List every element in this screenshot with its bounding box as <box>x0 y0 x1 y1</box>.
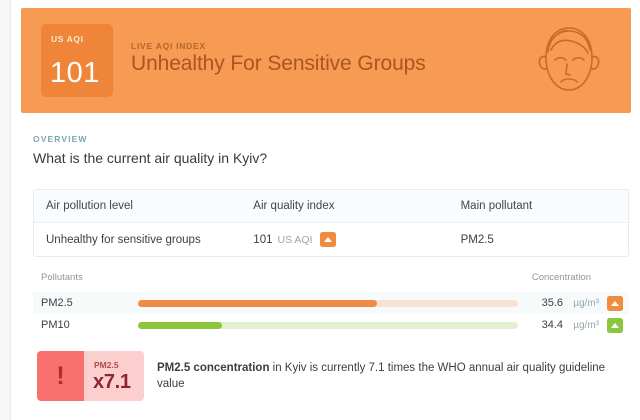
trend-up-icon <box>320 232 336 247</box>
banner-title: Unhealthy For Sensitive Groups <box>131 52 426 76</box>
content-card: US AQI 101 LIVE AQI INDEX Unhealthy For … <box>10 0 640 420</box>
who-guideline-text: PM2.5 concentration in Kyiv is currently… <box>157 360 627 392</box>
us-aqi-badge: US AQI 101 <box>41 24 113 97</box>
sad-face-icon <box>529 20 609 102</box>
who-text-bold: PM2.5 concentration <box>157 362 269 374</box>
pollutant-name: PM10 <box>41 319 70 331</box>
trend-up-icon <box>607 296 623 311</box>
who-multiplier-label: PM2.5 <box>94 360 119 370</box>
pollutant-row-pm25: PM2.5 35.6 µg/m³ <box>33 292 629 314</box>
cell-air-quality-index: 101 US AQI <box>241 232 448 247</box>
table-header-aqi: Air quality index <box>241 200 448 212</box>
pollutant-unit: µg/m³ <box>573 298 599 309</box>
exclamation-icon: ! <box>37 351 84 401</box>
cell-main-pollutant: PM2.5 <box>449 234 628 246</box>
who-multiplier-value: x7.1 <box>93 371 131 394</box>
aqi-banner: US AQI 101 LIVE AQI INDEX Unhealthy For … <box>21 8 631 113</box>
pollutant-bar-track <box>138 300 518 307</box>
air-quality-table: Air pollution level Air quality index Ma… <box>33 189 629 257</box>
us-aqi-badge-label: US AQI <box>51 34 84 44</box>
pollutant-name: PM2.5 <box>41 297 73 309</box>
table-row: Unhealthy for sensitive groups 101 US AQ… <box>34 223 628 256</box>
air-quality-page: US AQI 101 LIVE AQI INDEX Unhealthy For … <box>0 0 640 420</box>
pollutant-bar-fill <box>138 300 377 307</box>
who-multiplier: PM2.5 x7.1 <box>84 351 144 401</box>
table-header-row: Air pollution level Air quality index Ma… <box>34 190 628 223</box>
pollutant-bar-track <box>138 322 518 329</box>
banner-eyebrow: LIVE AQI INDEX <box>131 41 206 51</box>
pollutant-row-pm10: PM10 34.4 µg/m³ <box>33 314 629 336</box>
pollutant-value: 35.6 <box>542 297 563 309</box>
overview-question: What is the current air quality in Kyiv? <box>33 150 267 166</box>
cell-pollution-level: Unhealthy for sensitive groups <box>34 234 241 246</box>
overview-eyebrow: OVERVIEW <box>33 134 87 144</box>
pollutant-bar-fill <box>138 322 222 329</box>
concentration-column-label: Concentration <box>532 272 591 283</box>
pollutant-value: 34.4 <box>542 319 563 331</box>
pollutant-unit: µg/m³ <box>573 320 599 331</box>
who-guideline-badge: ! PM2.5 x7.1 <box>37 351 144 401</box>
pollutants-header: Pollutants Concentration <box>33 272 629 290</box>
pollutants-column-label: Pollutants <box>41 272 83 283</box>
trend-up-icon <box>607 318 623 333</box>
us-aqi-badge-value: 101 <box>50 57 100 90</box>
cell-aqi-unit: US AQI <box>277 234 312 246</box>
table-header-pollution-level: Air pollution level <box>34 200 241 212</box>
table-header-main-pollutant: Main pollutant <box>449 200 628 212</box>
cell-aqi-value: 101 <box>253 234 272 246</box>
